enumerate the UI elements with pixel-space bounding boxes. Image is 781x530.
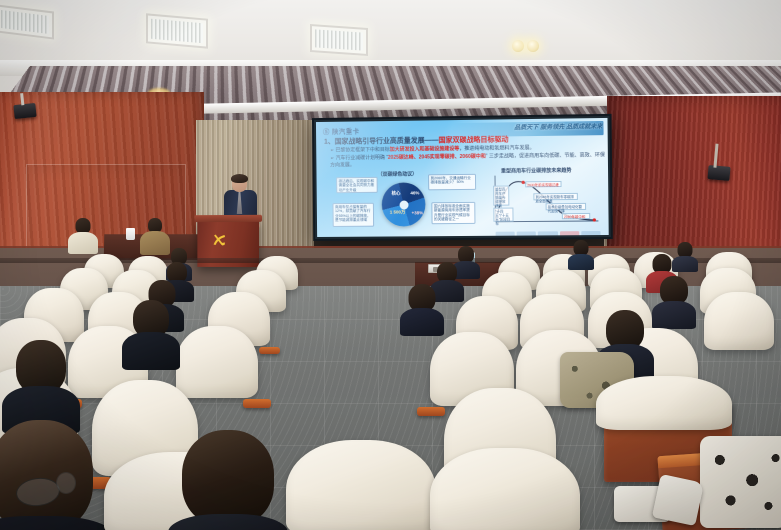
shoe xyxy=(652,474,704,526)
line-chart-note: 到2045年实现新车零碳排放全面覆盖 xyxy=(533,193,578,200)
ceiling-light-fixture xyxy=(310,24,368,56)
slide-callout: 碳达峰后，实现碳中和需要全社会共同努力推动产业升级 xyxy=(336,177,378,193)
eyeglasses xyxy=(56,472,76,494)
slide-callout: 商用车仅占保有量的12%，却贡献了汽车行业55%以上的碳排放，是节能减排重点领域 xyxy=(332,203,374,227)
pie-label: 核心 xyxy=(392,191,401,197)
foreground-person xyxy=(168,430,288,530)
pie-label: +38% xyxy=(412,210,424,215)
auditorium-seat[interactable] xyxy=(596,376,732,430)
seated-person xyxy=(122,300,180,366)
pie-chart-title: （双碳绿色动议） xyxy=(377,170,417,177)
seated-person xyxy=(400,284,444,334)
line-chart-note: 2060年碳中和 xyxy=(562,213,590,219)
slide-line-chart: 重型商用车产销量与碳排放强度 “十四五”/“十五五”阶段目标 2030年前实现碳… xyxy=(491,172,603,227)
seated-person xyxy=(652,276,696,328)
line-chart-legend-strip xyxy=(496,229,601,237)
ceiling-spotlight-pair xyxy=(512,40,540,53)
seated-person xyxy=(2,340,80,428)
wall-speaker-icon xyxy=(13,103,36,119)
paper-cup xyxy=(126,228,135,240)
lecture-hall-photo: 品质天下 服务领先 品质成就未来 ⑤ 陕汽重卡 1、国家战略引导行业高质量发展—… xyxy=(0,0,781,530)
slide-callout: 国六排放标准全面实施新能源商用车渗透率提升是行业实现气候目标的关键路径之一 xyxy=(431,202,475,224)
line-chart-note: “十四五”/“十五五”阶段目标 xyxy=(493,208,513,222)
slide-banner-text: 品质天下 服务领先 品质成就未来 xyxy=(514,121,602,135)
line-chart-note: 技术升级叠加电动化替代加快下降 xyxy=(546,203,587,210)
presentation-slide: 品质天下 服务领先 品质成就未来 ⑤ 陕汽重卡 1、国家战略引导行业高质量发展—… xyxy=(316,118,609,237)
pie-label: 46% xyxy=(410,190,419,195)
line-chart-note: 2030年前实现碳达峰 xyxy=(525,181,561,187)
line-chart-note: 重型商用车产销量与碳排放强度 xyxy=(493,186,509,206)
seated-person xyxy=(568,240,594,268)
seated-person xyxy=(68,218,98,252)
auditorium-seat[interactable] xyxy=(286,440,436,530)
wall-speaker-icon xyxy=(707,165,730,181)
slide-logo: ⑤ 陕汽重卡 xyxy=(323,125,360,135)
slide-pie-chart xyxy=(382,182,426,226)
slide-callout: 到2060年，交通运输行业碳排放量减少？ 50% xyxy=(428,174,476,190)
auditorium-seat[interactable] xyxy=(430,448,580,530)
hammer-and-sickle-icon xyxy=(211,233,227,247)
projection-screen[interactable]: 品质天下 服务领先 品质成就未来 ⑤ 陕汽重卡 1、国家战略引导行业高质量发展—… xyxy=(312,114,613,241)
auditorium-seat[interactable] xyxy=(704,292,774,350)
ceiling-light-fixture xyxy=(146,13,208,48)
patterned-garment xyxy=(700,436,781,528)
pie-label: 1 500万 xyxy=(390,209,406,215)
